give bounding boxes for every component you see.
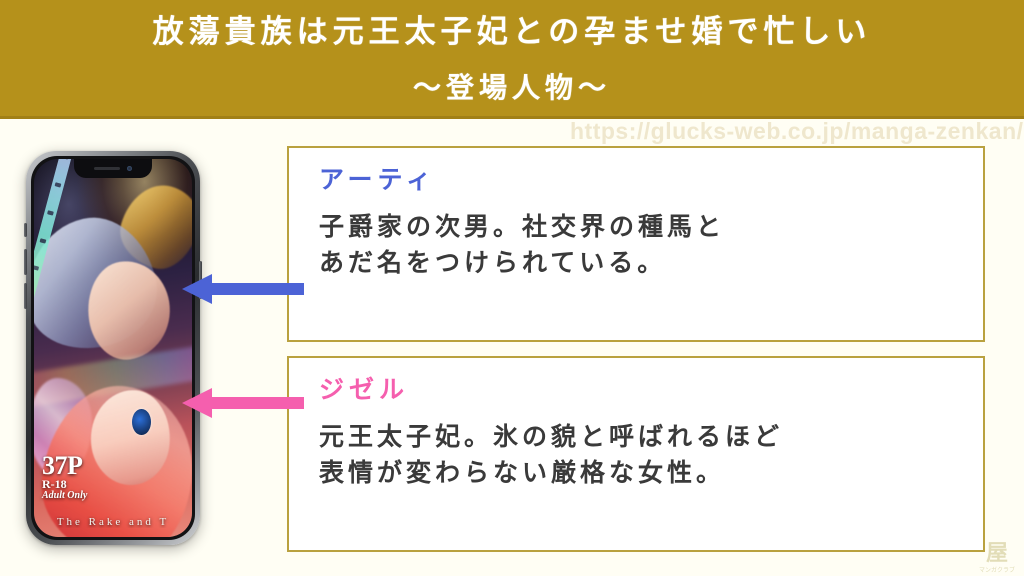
- character-description-line: 子爵家の次男。社交界の種馬と: [319, 210, 983, 246]
- cover-adult-only-label: Adult Only: [42, 491, 87, 502]
- character-description-line: 元王太子妃。氷の貌と呼ばれるほど: [319, 420, 983, 456]
- page-title: 放蕩貴族は元王太子妃との孕ませ婚で忙しい: [153, 14, 872, 50]
- phone-bezel: 37P R-18 Adult Only The Rake and T: [31, 156, 195, 540]
- phone-mockup: 37P R-18 Adult Only The Rake and T: [26, 151, 200, 545]
- character-description-line: あだ名をつけられている。: [319, 246, 983, 282]
- arrow-to-arty: [182, 272, 304, 306]
- character-description-line: 表情が変わらない厳格な女性。: [319, 456, 983, 492]
- character-name-gisele: ジゼル: [319, 378, 983, 403]
- corner-logo-glyph: 屋: [986, 542, 1008, 564]
- phone-volume-down-button: [24, 283, 27, 309]
- arrow-to-gisele: [182, 386, 304, 420]
- cover-page-count: 37P: [42, 452, 87, 479]
- cover-character-gisele-eye: [132, 409, 151, 435]
- corner-logo-text: マンガクラブ: [979, 565, 1015, 574]
- cover-rating-label: R-18: [42, 478, 87, 491]
- phone-silent-switch: [24, 223, 27, 237]
- cover-caption-block: 37P R-18 Adult Only: [42, 452, 87, 501]
- url-watermark: https://glucks-web.co.jp/manga-zenkan/: [570, 118, 1024, 145]
- header-banner: 放蕩貴族は元王太子妃との孕ませ婚で忙しい 〜登場人物〜: [0, 0, 1024, 119]
- phone-earpiece-speaker: [94, 167, 120, 170]
- phone-volume-up-button: [24, 249, 27, 275]
- character-name-arty: アーティ: [319, 168, 983, 193]
- phone-front-camera-icon: [127, 166, 132, 171]
- cover-english-title: The Rake and T: [34, 516, 192, 528]
- phone-notch: [74, 159, 152, 178]
- character-card-arty: アーティ 子爵家の次男。社交界の種馬と あだ名をつけられている。: [287, 146, 985, 342]
- phone-frame: 37P R-18 Adult Only The Rake and T: [26, 151, 200, 545]
- phone-screen: 37P R-18 Adult Only The Rake and T: [34, 159, 192, 537]
- page-subtitle: 〜登場人物〜: [413, 66, 611, 106]
- character-card-gisele: ジゼル 元王太子妃。氷の貌と呼ばれるほど 表情が変わらない厳格な女性。: [287, 356, 985, 552]
